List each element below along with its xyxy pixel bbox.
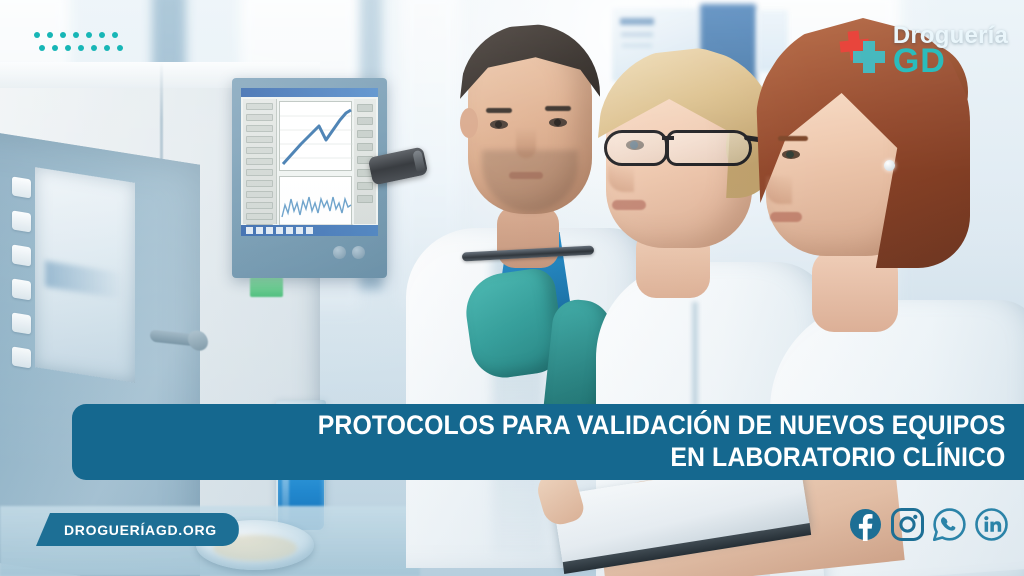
male-nose (516, 128, 536, 158)
analyzer-monitor-screen (241, 88, 378, 236)
lab-analyzer-status-light (250, 277, 283, 297)
redhead-eye (782, 150, 800, 159)
male-ear (460, 108, 478, 138)
analyzer-monitor-buttons (327, 246, 365, 264)
male-eye-left (490, 120, 508, 129)
brand-logo-text: Droguería GD (893, 25, 1008, 77)
website-url-badge[interactable]: DROGUERÍAGD.ORG (36, 513, 239, 546)
male-brow-left (486, 108, 512, 113)
screen-chart-noise (279, 176, 352, 231)
title-banner: PROTOCOLOS PARA VALIDACIÓN DE NUEVOS EQU… (72, 404, 1024, 480)
instagram-icon[interactable] (891, 508, 924, 541)
social-media-links (849, 508, 1008, 541)
redhead-earring (884, 160, 895, 171)
screen-chart-line (279, 101, 352, 171)
brand-name-initials: GD (893, 47, 1008, 77)
poster-title-line1: PROTOCOLOS PARA VALIDACIÓN DE NUEVOS EQU… (148, 410, 1005, 442)
poster-title: PROTOCOLOS PARA VALIDACIÓN DE NUEVOS EQU… (148, 410, 1022, 473)
lab-analyzer-keypad (12, 176, 32, 389)
safety-goggles (604, 128, 756, 168)
redhead-mouth (770, 212, 802, 222)
background-photo (0, 0, 1024, 576)
male-mouth (509, 172, 543, 179)
poster-title-line2: EN LABORATORIO CLÍNICO (148, 442, 1005, 474)
screen-titlebar (241, 88, 378, 97)
linkedin-icon[interactable] (975, 508, 1008, 541)
redhead-nose (766, 176, 792, 204)
website-url-text: DROGUERÍAGD.ORG (64, 522, 217, 538)
blonde-mouth (612, 200, 646, 210)
brand-logo[interactable]: Droguería GD (833, 24, 1008, 78)
whatsapp-icon[interactable] (933, 508, 966, 541)
male-eye-right (549, 118, 567, 127)
male-brow-right (545, 106, 571, 111)
medical-cross-icon (833, 24, 887, 78)
lab-analyzer-door-window (35, 167, 135, 383)
facebook-icon[interactable] (849, 508, 882, 541)
redhead-brow (778, 136, 808, 141)
poster-canvas: Droguería GD PROTOCOLOS PARA VALIDACIÓN … (0, 0, 1024, 576)
analyzer-monitor (232, 78, 387, 278)
decorative-dot-grid (34, 32, 122, 55)
screen-statusbar (241, 225, 378, 236)
screen-toolbar-left (243, 99, 277, 224)
